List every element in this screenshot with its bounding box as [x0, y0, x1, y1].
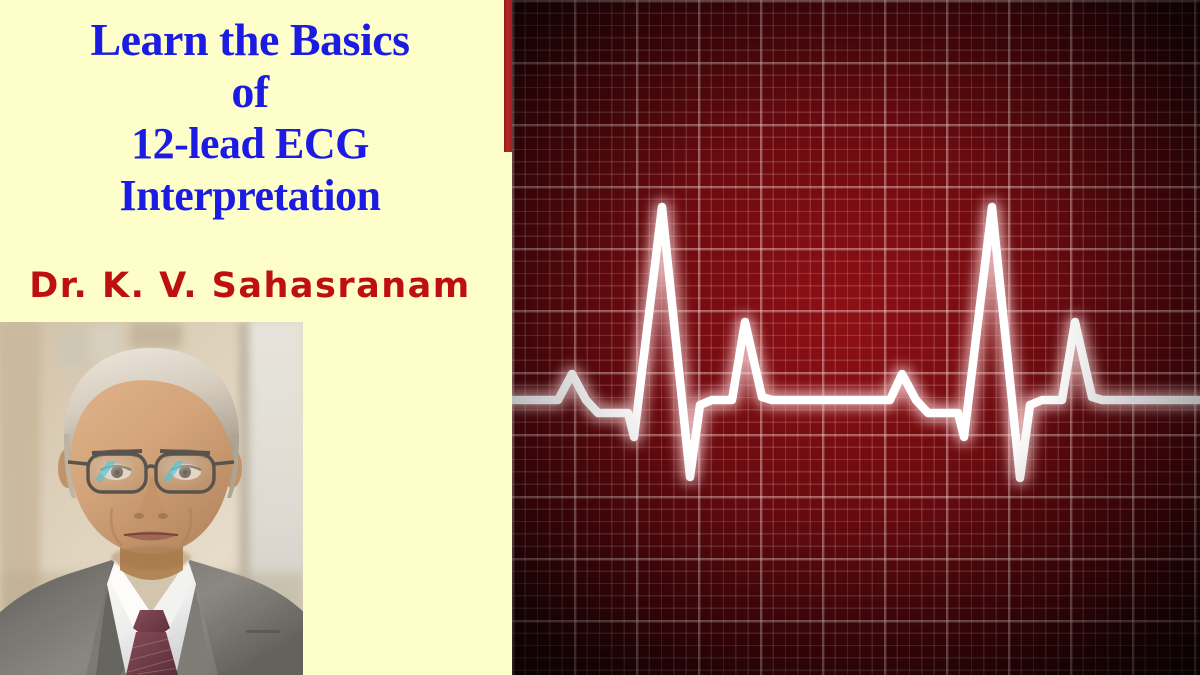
ecg-grid-major — [512, 0, 1200, 675]
portrait-illustration — [0, 322, 303, 675]
title-line-2: of — [0, 66, 500, 118]
page-title: Learn the Basics of 12-lead ECG Interpre… — [0, 14, 500, 222]
title-line-4: Interpretation — [0, 170, 500, 222]
slide-canvas: Learn the Basics of 12-lead ECG Interpre… — [0, 0, 1200, 675]
ecg-graphic-panel — [512, 0, 1200, 675]
title-line-1: Learn the Basics — [0, 14, 500, 66]
title-line-3: 12-lead ECG — [0, 118, 500, 170]
left-title-panel: Learn the Basics of 12-lead ECG Interpre… — [0, 0, 512, 675]
author-name: Dr. K. V. Sahasranam — [0, 266, 500, 306]
author-portrait-photo — [0, 322, 303, 675]
